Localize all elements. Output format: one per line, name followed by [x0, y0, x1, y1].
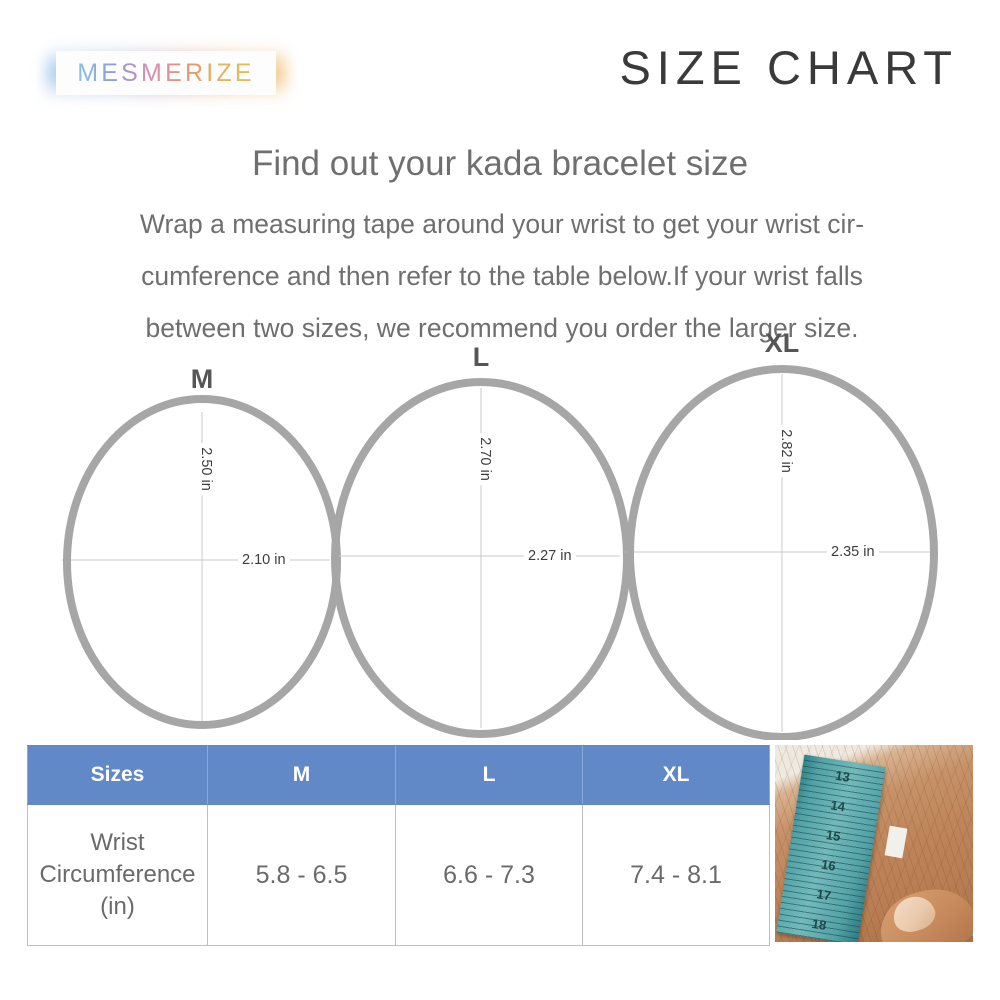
tape-number-14: 14 [830, 797, 847, 814]
table-header-row: Sizes M L XL [28, 746, 770, 805]
tape-number-18: 18 [811, 915, 828, 932]
size-table: Sizes M L XL Wrist Circumference (in) 5.… [27, 745, 770, 946]
oval-label-m: M [191, 364, 214, 395]
intro-heading: Find out your kada bracelet size [0, 144, 1000, 184]
table-header-xl: XL [583, 746, 770, 805]
logo-plate: MESMERIZE [56, 51, 276, 95]
cell-wrist-circumference-xl: 7.4 - 8.1 [583, 805, 770, 946]
oval-width-label-l: 2.27 in [524, 547, 576, 565]
bracelet-ovals-diagram: M L XL 2.10 in 2.27 in 2.35 in 2.50 in 2… [0, 350, 1000, 740]
cell-wrist-circumference-l: 6.6 - 7.3 [396, 805, 583, 946]
page-title: SIZE CHART [619, 40, 958, 95]
cell-wrist-circumference-m: 5.8 - 6.5 [208, 805, 396, 946]
tape-number-17: 17 [816, 886, 833, 903]
intro-paragraph: Wrap a measuring tape around your wrist … [48, 198, 956, 354]
oval-height-label-l: 2.70 in [476, 433, 494, 485]
row-label-wrist-circumference: Wrist Circumference (in) [28, 805, 208, 946]
oval-label-xl: XL [765, 328, 800, 359]
table-header-sizes: Sizes [28, 746, 208, 805]
table-row: Wrist Circumference (in) 5.8 - 6.5 6.6 -… [28, 805, 770, 946]
brand-logo: MESMERIZE [46, 42, 286, 104]
table-header-m: M [208, 746, 396, 805]
tape-number-16: 16 [820, 856, 837, 873]
table-header-l: L [396, 746, 583, 805]
oval-height-label-m: 2.50 in [197, 443, 215, 495]
oval-width-label-m: 2.10 in [238, 551, 290, 569]
tape-number-15: 15 [825, 827, 842, 844]
wrist-measurement-photo: 13 14 15 16 17 18 [775, 745, 973, 942]
oval-width-label-xl: 2.35 in [827, 543, 879, 561]
oval-label-l: L [473, 342, 490, 373]
oval-height-label-xl: 2.82 in [777, 425, 795, 477]
tape-number-13: 13 [834, 767, 851, 784]
brand-wordmark: MESMERIZE [77, 59, 254, 88]
